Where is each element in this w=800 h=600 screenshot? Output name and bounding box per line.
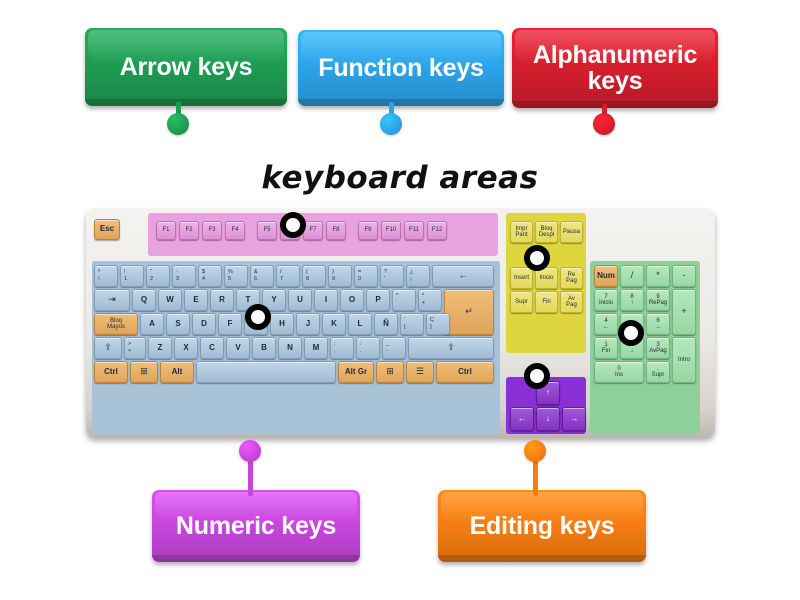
key-label: Q bbox=[141, 296, 147, 304]
key-4[interactable]: 4← bbox=[594, 313, 618, 335]
key-label: W bbox=[166, 296, 174, 304]
key-label: Y bbox=[271, 296, 276, 304]
key-1[interactable]: !1 bbox=[120, 265, 144, 287]
label-card-text: Function keys bbox=[306, 55, 496, 82]
key-label: >< bbox=[126, 339, 144, 357]
key-a[interactable]: A bbox=[140, 313, 164, 335]
key-esc[interactable]: Esc bbox=[94, 219, 120, 240]
key-supr[interactable]: Supr bbox=[510, 291, 533, 313]
key-label: F bbox=[228, 320, 233, 328]
key-space[interactable]: * bbox=[646, 265, 670, 287]
key-label: BloqDespl bbox=[539, 226, 554, 239]
key-label: N bbox=[287, 344, 293, 352]
key-intro[interactable]: Intro bbox=[672, 337, 696, 383]
key-re-pag[interactable]: RePag bbox=[560, 267, 583, 289]
key-space[interactable]: ↵ bbox=[444, 289, 494, 335]
key-label: F4 bbox=[231, 227, 238, 233]
key-label: BloqMayús bbox=[107, 318, 125, 331]
connector-dot-editing-keys[interactable] bbox=[524, 440, 546, 462]
key-f12[interactable]: F12 bbox=[427, 221, 447, 240]
key-0[interactable]: =0 bbox=[354, 265, 378, 287]
key-label: H bbox=[279, 320, 285, 328]
key-label: R bbox=[219, 296, 225, 304]
key-label: ¨{ bbox=[402, 315, 422, 333]
key-label: A bbox=[149, 320, 155, 328]
keyboard-surface: EscF1F2F3F4F5F6F7F8F9F10F11F12ImprPantBl… bbox=[86, 207, 715, 437]
key-space[interactable]: ⇧ bbox=[94, 337, 122, 359]
key-space[interactable]: + bbox=[672, 289, 696, 335]
key-i[interactable]: I bbox=[314, 289, 338, 311]
key-f10[interactable]: F10 bbox=[381, 221, 401, 240]
key-label: Ctrl bbox=[104, 368, 118, 376]
key-3[interactable]: ·3 bbox=[172, 265, 196, 287]
key-space[interactable]: Ñ bbox=[374, 313, 398, 335]
key-c[interactable]: C bbox=[200, 337, 224, 359]
key-label: /7 bbox=[278, 267, 298, 285]
key-4[interactable]: $4 bbox=[198, 265, 222, 287]
key-bloq-may-s[interactable]: BloqMayús bbox=[94, 313, 138, 335]
key-space[interactable]: ¨{ bbox=[400, 313, 424, 335]
key-f4[interactable]: F4 bbox=[225, 221, 245, 240]
key-label: _- bbox=[384, 339, 404, 357]
key-space[interactable]: ← bbox=[432, 265, 494, 287]
key-label: Esc bbox=[100, 225, 114, 233]
key-label: %5 bbox=[226, 267, 246, 285]
key-label: (8 bbox=[304, 267, 324, 285]
key-label: &6 bbox=[252, 267, 272, 285]
key-space[interactable]: ;, bbox=[330, 337, 354, 359]
key-label: $4 bbox=[200, 267, 220, 285]
key-label: F2 bbox=[185, 227, 192, 233]
key-f7[interactable]: F7 bbox=[303, 221, 323, 240]
key-label: ⇧ bbox=[104, 343, 112, 352]
key-label: ← bbox=[459, 271, 468, 280]
key-f11[interactable]: F11 bbox=[404, 221, 424, 240]
key-label: F11 bbox=[409, 227, 419, 233]
key-f8[interactable]: F8 bbox=[326, 221, 346, 240]
key-r[interactable]: R bbox=[210, 289, 234, 311]
key-d[interactable]: D bbox=[192, 313, 216, 335]
marker-arrow-keys[interactable] bbox=[524, 363, 550, 389]
key-6[interactable]: &6 bbox=[250, 265, 274, 287]
key-label: F10 bbox=[386, 227, 396, 233]
label-card-numeric-keys[interactable]: Numeric keys bbox=[152, 490, 360, 562]
label-card-editing-keys[interactable]: Editing keys bbox=[438, 490, 646, 562]
key-label: ^` bbox=[394, 291, 414, 309]
marker-alphanumeric-keys[interactable] bbox=[245, 304, 271, 330]
key-alt-gr[interactable]: Alt Gr bbox=[338, 361, 374, 383]
key-label: E bbox=[193, 296, 198, 304]
key-space[interactable]: ^` bbox=[392, 289, 416, 311]
key-space[interactable]: ⇧ bbox=[408, 337, 494, 359]
key-space[interactable]: :. bbox=[356, 337, 380, 359]
key-label: F12 bbox=[432, 227, 442, 233]
key-label: º\ bbox=[96, 267, 116, 285]
key-j[interactable]: J bbox=[296, 313, 320, 335]
key-label: D bbox=[201, 320, 207, 328]
key-3-avpag[interactable]: 3AvPag bbox=[646, 337, 670, 359]
key-space[interactable]: ☰ bbox=[406, 361, 434, 383]
key-9[interactable]: )9 bbox=[328, 265, 352, 287]
key-6[interactable]: 6→ bbox=[646, 313, 670, 335]
key-label: P bbox=[375, 296, 380, 304]
key-label: 7Inicio bbox=[599, 294, 613, 307]
key-label: B bbox=[261, 344, 267, 352]
key-label: 9RePag bbox=[649, 294, 667, 307]
key-f3[interactable]: F3 bbox=[202, 221, 222, 240]
label-card-function-keys[interactable]: Function keys bbox=[298, 30, 504, 106]
connector-dot-numeric-keys[interactable] bbox=[239, 440, 261, 462]
key-space[interactable]: ⊞ bbox=[130, 361, 158, 383]
key-v[interactable]: V bbox=[226, 337, 250, 359]
key-z[interactable]: Z bbox=[148, 337, 172, 359]
marker-numeric-keys[interactable] bbox=[618, 320, 644, 346]
key-m[interactable]: M bbox=[304, 337, 328, 359]
key-space[interactable]: _- bbox=[382, 337, 406, 359]
key-label: X bbox=[183, 344, 188, 352]
key-label: F1 bbox=[162, 227, 169, 233]
key-label: 8↑ bbox=[630, 294, 633, 307]
key-u[interactable]: U bbox=[288, 289, 312, 311]
key-label: )9 bbox=[330, 267, 350, 285]
key-supr[interactable]: .Supr bbox=[646, 361, 670, 383]
key-9-repag[interactable]: 9RePag bbox=[646, 289, 670, 311]
key-f[interactable]: F bbox=[218, 313, 242, 335]
key-label: Fin bbox=[542, 299, 550, 305]
key-e[interactable]: E bbox=[184, 289, 208, 311]
key-label: Alt bbox=[172, 368, 183, 376]
key-space[interactable]: Ç} bbox=[426, 313, 450, 335]
key-label: ← bbox=[518, 414, 527, 423]
key-label: Ñ bbox=[383, 320, 389, 328]
key-label: ⇥ bbox=[108, 295, 116, 304]
key-label: =0 bbox=[356, 267, 376, 285]
key-s[interactable]: S bbox=[166, 313, 190, 335]
key-label: ↑ bbox=[546, 388, 551, 397]
key-w[interactable]: W bbox=[158, 289, 182, 311]
key-label: Num bbox=[597, 272, 615, 280]
key-label: Intro bbox=[678, 357, 690, 363]
key-space[interactable]: / bbox=[620, 265, 644, 287]
key-label: *+ bbox=[420, 291, 440, 309]
key-label: / bbox=[631, 271, 634, 280]
key-o[interactable]: O bbox=[340, 289, 364, 311]
key-1-fin[interactable]: 1Fin bbox=[594, 337, 618, 359]
key-label: 1Fin bbox=[602, 342, 610, 355]
key-label: RePag bbox=[566, 272, 577, 285]
key-label: ;, bbox=[332, 339, 352, 357]
key-label: !1 bbox=[122, 267, 142, 285]
key-space[interactable]: ⇥ bbox=[94, 289, 130, 311]
key-av-pag[interactable]: AvPag bbox=[560, 291, 583, 313]
key-q[interactable]: Q bbox=[132, 289, 156, 311]
key-l[interactable]: L bbox=[348, 313, 372, 335]
key-label: + bbox=[681, 307, 686, 316]
key-label: S bbox=[175, 320, 180, 328]
key-label: ·3 bbox=[174, 267, 194, 285]
connector-dot-alphanumeric-keys[interactable] bbox=[593, 113, 615, 135]
marker-function-keys[interactable] bbox=[280, 212, 306, 238]
key-fin[interactable]: Fin bbox=[535, 291, 558, 313]
key-bloq-despl[interactable]: BloqDespl bbox=[535, 221, 558, 243]
label-card-text: Editing keys bbox=[446, 513, 638, 540]
key-space[interactable]: ?' bbox=[380, 265, 404, 287]
label-card-text: Arrow keys bbox=[93, 54, 279, 81]
key-label: Ç} bbox=[428, 315, 448, 333]
key-label: U bbox=[297, 296, 303, 304]
key-label: Pausa bbox=[563, 229, 580, 235]
key-ctrl[interactable]: Ctrl bbox=[94, 361, 128, 383]
key-label: * bbox=[656, 271, 660, 280]
key-impr-pant[interactable]: ImprPant bbox=[510, 221, 533, 243]
key-label: ¿¡ bbox=[408, 267, 428, 285]
key-b[interactable]: B bbox=[252, 337, 276, 359]
key-label: → bbox=[570, 414, 579, 423]
key-insert[interactable]: Insert bbox=[510, 267, 533, 289]
key-label: ⇧ bbox=[447, 343, 455, 352]
key-label: 4← bbox=[603, 318, 609, 331]
key-k[interactable]: K bbox=[322, 313, 346, 335]
key-label: T bbox=[246, 296, 251, 304]
connector-dot-function-keys[interactable] bbox=[380, 113, 402, 135]
key-7[interactable]: /7 bbox=[276, 265, 300, 287]
key-5[interactable]: %5 bbox=[224, 265, 248, 287]
key-label: F9 bbox=[364, 227, 371, 233]
key-label: Supr bbox=[515, 299, 528, 305]
key-label: F5 bbox=[263, 227, 270, 233]
key-label: .Supr bbox=[652, 366, 665, 379]
keyboard-diagram: EscF1F2F3F4F5F6F7F8F9F10F11F12ImprPantBl… bbox=[86, 207, 715, 437]
key-label: "2 bbox=[148, 267, 168, 285]
page-title: keyboard areas bbox=[0, 160, 800, 196]
key-x[interactable]: X bbox=[174, 337, 198, 359]
key-label: F3 bbox=[208, 227, 215, 233]
key-f2[interactable]: F2 bbox=[179, 221, 199, 240]
key-space[interactable]: ⊞ bbox=[376, 361, 404, 383]
key-p[interactable]: P bbox=[366, 289, 390, 311]
key-8[interactable]: (8 bbox=[302, 265, 326, 287]
key-label: Inicio bbox=[539, 275, 553, 281]
label-card-alphanumeric-keys[interactable]: Alphanumeric keys bbox=[512, 28, 718, 108]
key-space[interactable]: >< bbox=[124, 337, 146, 359]
key-space[interactable]: *+ bbox=[418, 289, 442, 311]
key-h[interactable]: H bbox=[270, 313, 294, 335]
key-label: 0Ins bbox=[615, 366, 623, 379]
key-0-ins[interactable]: 0Ins bbox=[594, 361, 644, 383]
key-f1[interactable]: F1 bbox=[156, 221, 176, 240]
key-label: ↵ bbox=[465, 307, 473, 316]
key-num[interactable]: Num bbox=[594, 265, 618, 287]
key-ctrl[interactable]: Ctrl bbox=[436, 361, 494, 383]
key-label: O bbox=[349, 296, 355, 304]
key-label: Insert bbox=[514, 275, 529, 281]
key-label: F7 bbox=[309, 227, 316, 233]
key-label: F8 bbox=[332, 227, 339, 233]
key-label: Ctrl bbox=[458, 368, 472, 376]
key-f9[interactable]: F9 bbox=[358, 221, 378, 240]
key-label: Alt Gr bbox=[345, 368, 367, 376]
key-7-inicio[interactable]: 7Inicio bbox=[594, 289, 618, 311]
key-f5[interactable]: F5 bbox=[257, 221, 277, 240]
key-space[interactable]: ← bbox=[510, 407, 534, 431]
key-label: I bbox=[325, 296, 327, 304]
key-label: ↓ bbox=[546, 414, 551, 423]
key-label: - bbox=[683, 271, 686, 280]
key-label: C bbox=[209, 344, 215, 352]
label-card-arrow-keys[interactable]: Arrow keys bbox=[85, 28, 287, 106]
key-label: 6→ bbox=[655, 318, 661, 331]
key-label: :. bbox=[358, 339, 378, 357]
marker-editing-keys[interactable] bbox=[524, 245, 550, 271]
key-label: M bbox=[313, 344, 320, 352]
key-alt[interactable]: Alt bbox=[160, 361, 194, 383]
key-label: L bbox=[358, 320, 363, 328]
key-space[interactable]: - bbox=[672, 265, 696, 287]
key-label: K bbox=[331, 320, 337, 328]
key-space[interactable]: º\ bbox=[94, 265, 118, 287]
key-label: ⊞ bbox=[140, 367, 148, 376]
label-card-text: Alphanumeric keys bbox=[520, 42, 710, 95]
connector-dot-arrow-keys[interactable] bbox=[167, 113, 189, 135]
key-n[interactable]: N bbox=[278, 337, 302, 359]
key-space[interactable]: ↓ bbox=[536, 407, 560, 431]
key-label: 3AvPag bbox=[649, 342, 667, 355]
key-label: Z bbox=[158, 344, 163, 352]
key-label: ImprPant bbox=[515, 226, 527, 239]
key-label: ⊞ bbox=[386, 367, 394, 376]
key-blank[interactable] bbox=[196, 361, 336, 383]
key-2[interactable]: "2 bbox=[146, 265, 170, 287]
label-card-text: Numeric keys bbox=[160, 513, 352, 540]
key-pausa[interactable]: Pausa bbox=[560, 221, 583, 243]
worksheet-canvas: Arrow keysFunction keysAlphanumeric keys… bbox=[0, 0, 800, 600]
key-label: V bbox=[235, 344, 240, 352]
key-label: AvPag bbox=[566, 296, 577, 309]
key-space[interactable]: → bbox=[562, 407, 586, 431]
key-8[interactable]: 8↑ bbox=[620, 289, 644, 311]
key-space[interactable]: ¿¡ bbox=[406, 265, 430, 287]
key-label: J bbox=[306, 320, 310, 328]
key-label: ?' bbox=[382, 267, 402, 285]
key-label: ☰ bbox=[416, 367, 424, 376]
